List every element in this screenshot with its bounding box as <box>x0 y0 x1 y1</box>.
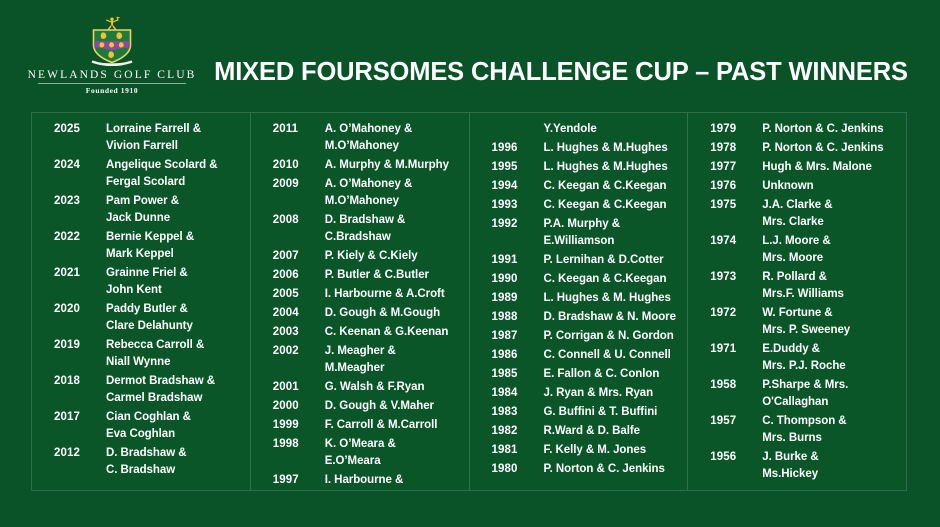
winner-row: 1988D. Bradshaw & N. Moore <box>470 309 688 326</box>
winner-names: Rebecca Carroll &Niall Wynne <box>106 337 244 371</box>
winner-row: 2003C. Keenan & G.Keenan <box>251 324 469 341</box>
winner-names: C. Keegan & C.Keegan <box>544 271 682 288</box>
winner-name-line: Bernie Keppel & <box>106 229 244 246</box>
winner-year: 1983 <box>492 404 544 421</box>
winner-year: 2024 <box>54 157 106 174</box>
winner-names: A. O’Mahoney &M.O’Mahoney <box>325 176 463 210</box>
winner-row: 1957C. Thompson &Mrs. Burns <box>688 413 906 447</box>
winner-year: 2018 <box>54 373 106 390</box>
winner-year: 2010 <box>273 157 325 174</box>
winner-year: 1980 <box>492 461 544 478</box>
winner-year: 2009 <box>273 176 325 193</box>
winner-names: L. Hughes & M.Hughes <box>544 159 682 176</box>
winner-year: 2004 <box>273 305 325 322</box>
winner-year: 1986 <box>492 347 544 364</box>
winner-name-line: C.Bradshaw <box>325 229 463 246</box>
winner-name-line: P. Norton & C. Jenkins <box>762 140 900 157</box>
winner-row: 1989L. Hughes & M. Hughes <box>470 290 688 307</box>
winner-names: J. Ryan & Mrs. Ryan <box>544 385 682 402</box>
winner-name-line: O'Callaghan <box>762 394 900 411</box>
winner-row: 1999F. Carroll & M.Carroll <box>251 417 469 434</box>
winner-year: 1975 <box>710 197 762 214</box>
winner-name-line: Mark Keppel <box>106 246 244 263</box>
winner-names: P. Norton & C. Jenkins <box>544 461 682 478</box>
winner-names: R.Ward & D. Balfe <box>544 423 682 440</box>
winner-name-line: Mrs. Moore <box>762 250 900 267</box>
winner-names: C. Thompson &Mrs. Burns <box>762 413 900 447</box>
winner-row: 2011A. O’Mahoney &M.O’Mahoney <box>251 121 469 155</box>
winner-name-line: Mrs.F. Williams <box>762 286 900 303</box>
winner-row: 2024Angelique Scolard &Fergal Scolard <box>32 157 250 191</box>
winner-names: P. Kiely & C.Kiely <box>325 248 463 265</box>
winner-name-line: Clare Delahunty <box>106 318 244 335</box>
winner-name-line: E.Duddy & <box>762 341 900 358</box>
winner-names: P. Butler & C.Butler <box>325 267 463 284</box>
winner-year: 2019 <box>54 337 106 354</box>
winner-names: D. Gough & V.Maher <box>325 398 463 415</box>
winner-year: 1958 <box>710 377 762 394</box>
winner-names: D. Gough & M.Gough <box>325 305 463 322</box>
winner-names: C. Keegan & C.Keegan <box>544 197 682 214</box>
winner-names: F. Carroll & M.Carroll <box>325 417 463 434</box>
column-3: Y.Yendole1996L. Hughes & M.Hughes1995L. … <box>469 113 688 490</box>
winner-names: P. Norton & C. Jenkins <box>762 121 900 138</box>
winner-year: 2003 <box>273 324 325 341</box>
winner-name-line: G. Walsh & F.Ryan <box>325 379 463 396</box>
winner-year: 1990 <box>492 271 544 288</box>
winner-name-line: Y.Yendole <box>544 121 682 138</box>
winner-name-line: E.O’Meara <box>325 453 463 470</box>
winner-year: 2017 <box>54 409 106 426</box>
winner-row: 1998K. O’Meara &E.O’Meara <box>251 436 469 470</box>
winner-row: 1986C. Connell & U. Connell <box>470 347 688 364</box>
winner-name-line: L.J. Moore & <box>762 233 900 250</box>
winner-name-line: I. Harbourne & A.Croft <box>325 286 463 303</box>
winner-name-line: M.O’Mahoney <box>325 193 463 210</box>
winner-name-line: D. Gough & M.Gough <box>325 305 463 322</box>
winner-row: 2002J. Meagher &M.Meagher <box>251 343 469 377</box>
winners-panel: 2025Lorraine Farrell &Vivion Farrell2024… <box>31 112 907 491</box>
winner-name-line: E.Williamson <box>544 233 682 250</box>
winner-row: 1975J.A. Clarke &Mrs. Clarke <box>688 197 906 231</box>
winner-names: E. Fallon & C. Conlon <box>544 366 682 383</box>
winner-name-line: C. Keegan & C.Keegan <box>544 178 682 195</box>
winner-names: L. Hughes & M.Hughes <box>544 140 682 157</box>
winner-year: 1999 <box>273 417 325 434</box>
winner-year: 1989 <box>492 290 544 307</box>
winner-name-line: P. Butler & C.Butler <box>325 267 463 284</box>
winner-names: P. Lernihan & D.Cotter <box>544 252 682 269</box>
winner-names: J. Meagher &M.Meagher <box>325 343 463 377</box>
winner-name-line: C. Connell & U. Connell <box>544 347 682 364</box>
winner-year: 1985 <box>492 366 544 383</box>
winner-name-line: K. O’Meara & <box>325 436 463 453</box>
winner-name-line: C. Thompson & <box>762 413 900 430</box>
winner-row: 2025Lorraine Farrell &Vivion Farrell <box>32 121 250 155</box>
winners-columns: 2025Lorraine Farrell &Vivion Farrell2024… <box>32 113 906 490</box>
club-name-underline <box>38 83 186 84</box>
winner-name-line: F. Kelly & M. Jones <box>544 442 682 459</box>
winner-year: 1994 <box>492 178 544 195</box>
winner-names: Lorraine Farrell &Vivion Farrell <box>106 121 244 155</box>
winner-year: 1992 <box>492 216 544 233</box>
winner-name-line: Pam Power & <box>106 193 244 210</box>
winner-row: 1993C. Keegan & C.Keegan <box>470 197 688 214</box>
winner-row: 1972W. Fortune &Mrs. P. Sweeney <box>688 305 906 339</box>
winner-name-line: P. Kiely & C.Kiely <box>325 248 463 265</box>
winner-names: K. O’Meara &E.O’Meara <box>325 436 463 470</box>
winner-row: 1982R.Ward & D. Balfe <box>470 423 688 440</box>
winner-row: 1984J. Ryan & Mrs. Ryan <box>470 385 688 402</box>
winner-row: 2017Cian Coghlan &Eva Coghlan <box>32 409 250 443</box>
winner-year: 2023 <box>54 193 106 210</box>
winner-name-line: D. Gough & V.Maher <box>325 398 463 415</box>
winner-year: 1981 <box>492 442 544 459</box>
column-2: 2011A. O’Mahoney &M.O’Mahoney2010A. Murp… <box>250 113 469 490</box>
winner-names: C. Keenan & G.Keenan <box>325 324 463 341</box>
winner-name-line: Angelique Scolard & <box>106 157 244 174</box>
winner-name-line: A. O’Mahoney & <box>325 121 463 138</box>
winner-year: 1974 <box>710 233 762 250</box>
winner-year: 2020 <box>54 301 106 318</box>
winner-year: 2007 <box>273 248 325 265</box>
winner-name-line: Fergal Scolard <box>106 174 244 191</box>
winner-name-line: Carmel Bradshaw <box>106 390 244 407</box>
page-title: MIXED FOURSOMES CHALLENGE CUP – PAST WIN… <box>205 58 917 87</box>
winner-row: 2010A. Murphy & M.Murphy <box>251 157 469 174</box>
winner-name-line: P. Norton & C. Jenkins <box>544 461 682 478</box>
winner-year: 2000 <box>273 398 325 415</box>
column-4: 1979P. Norton & C. Jenkins1978P. Norton … <box>687 113 906 490</box>
winner-name-line: A. Murphy & M.Murphy <box>325 157 463 174</box>
winner-names: J.A. Clarke &Mrs. Clarke <box>762 197 900 231</box>
winner-names: Angelique Scolard &Fergal Scolard <box>106 157 244 191</box>
winner-name-line: P.Sharpe & Mrs. <box>762 377 900 394</box>
winner-name-line: Paddy Butler & <box>106 301 244 318</box>
winner-year: 2001 <box>273 379 325 396</box>
winner-row: 2022Bernie Keppel &Mark Keppel <box>32 229 250 263</box>
winner-year: 1982 <box>492 423 544 440</box>
winner-year: 1995 <box>492 159 544 176</box>
winner-year: 2005 <box>273 286 325 303</box>
winner-names: P. Norton & C. Jenkins <box>762 140 900 157</box>
winner-name-line: Eva Coghlan <box>106 426 244 443</box>
winner-name-line: J.A. Clarke & <box>762 197 900 214</box>
winner-year: 2021 <box>54 265 106 282</box>
winner-year: 1957 <box>710 413 762 430</box>
winner-year: 1978 <box>710 140 762 157</box>
winner-names: P.A. Murphy &E.Williamson <box>544 216 682 250</box>
winner-row: 1991P. Lernihan & D.Cotter <box>470 252 688 269</box>
winner-name-line: Ms.Hickey <box>762 466 900 483</box>
winner-name-line: Grainne Friel & <box>106 265 244 282</box>
winner-year: 1987 <box>492 328 544 345</box>
winner-name-line: M.O’Mahoney <box>325 138 463 155</box>
winner-row: 1990C. Keegan & C.Keegan <box>470 271 688 288</box>
winner-names: D. Bradshaw & N. Moore <box>544 309 682 326</box>
winner-row: 2004D. Gough & M.Gough <box>251 305 469 322</box>
winner-name-line: Niall Wynne <box>106 354 244 371</box>
club-logo: NEWLANDS GOLF CLUB Founded 1910 <box>22 16 202 95</box>
winner-names: C. Keegan & C.Keegan <box>544 178 682 195</box>
winner-row: 2020Paddy Butler &Clare Delahunty <box>32 301 250 335</box>
winner-name-line: L. Hughes & M. Hughes <box>544 290 682 307</box>
winner-name-line: P. Lernihan & D.Cotter <box>544 252 682 269</box>
winner-row: 1983G. Buffini & T. Buffini <box>470 404 688 421</box>
winner-name-line: Unknown <box>762 178 900 195</box>
winner-year: 2011 <box>273 121 325 138</box>
club-name: NEWLANDS GOLF CLUB <box>22 69 202 81</box>
winner-year: 1997 <box>273 472 325 489</box>
winner-year: 1998 <box>273 436 325 453</box>
winner-names: E.Duddy &Mrs. P.J. Roche <box>762 341 900 375</box>
winner-row: 1981F. Kelly & M. Jones <box>470 442 688 459</box>
winner-names: P.Sharpe & Mrs.O'Callaghan <box>762 377 900 411</box>
winner-row: 1985E. Fallon & C. Conlon <box>470 366 688 383</box>
winner-row: 2023Pam Power &Jack Dunne <box>32 193 250 227</box>
winner-names: P. Corrigan & N. Gordon <box>544 328 682 345</box>
winner-row: 1997I. Harbourne & <box>251 472 469 489</box>
winner-row: 1992P.A. Murphy &E.Williamson <box>470 216 688 250</box>
winner-row: 2001G. Walsh & F.Ryan <box>251 379 469 396</box>
winner-name-line: Mrs. Clarke <box>762 214 900 231</box>
winner-year: 1993 <box>492 197 544 214</box>
winner-names: D. Bradshaw &C. Bradshaw <box>106 445 244 479</box>
winner-name-line: D. Bradshaw & <box>325 212 463 229</box>
winner-names: A. Murphy & M.Murphy <box>325 157 463 174</box>
winner-name-line: J. Burke & <box>762 449 900 466</box>
winner-row: 2000D. Gough & V.Maher <box>251 398 469 415</box>
winner-names: Y.Yendole <box>544 121 682 138</box>
winner-year: 1973 <box>710 269 762 286</box>
winner-year: 2022 <box>54 229 106 246</box>
winner-names: D. Bradshaw &C.Bradshaw <box>325 212 463 246</box>
winner-names: Dermot Bradshaw &Carmel Bradshaw <box>106 373 244 407</box>
winner-name-line: Rebecca Carroll & <box>106 337 244 354</box>
winner-name-line: R.Ward & D. Balfe <box>544 423 682 440</box>
winner-names: Pam Power &Jack Dunne <box>106 193 244 227</box>
winner-row: 1987P. Corrigan & N. Gordon <box>470 328 688 345</box>
winner-names: Unknown <box>762 178 900 195</box>
winner-row: 2019Rebecca Carroll &Niall Wynne <box>32 337 250 371</box>
winner-year: 1972 <box>710 305 762 322</box>
winner-row: 2018Dermot Bradshaw &Carmel Bradshaw <box>32 373 250 407</box>
winner-name-line: G. Buffini & T. Buffini <box>544 404 682 421</box>
winner-name-line: M.Meagher <box>325 360 463 377</box>
winner-row: Y.Yendole <box>470 121 688 138</box>
winner-year: 1956 <box>710 449 762 466</box>
winner-name-line: Cian Coghlan & <box>106 409 244 426</box>
board-header: NEWLANDS GOLF CLUB Founded 1910 MIXED FO… <box>0 0 940 108</box>
winner-row: 2006P. Butler & C.Butler <box>251 267 469 284</box>
winner-row: 1971E.Duddy &Mrs. P.J. Roche <box>688 341 906 375</box>
winner-row: 1958P.Sharpe & Mrs.O'Callaghan <box>688 377 906 411</box>
winner-row: 2012D. Bradshaw &C. Bradshaw <box>32 445 250 479</box>
winner-names: Hugh & Mrs. Malone <box>762 159 900 176</box>
winner-name-line: Mrs. P. Sweeney <box>762 322 900 339</box>
winner-year: 2006 <box>273 267 325 284</box>
winner-year: 1977 <box>710 159 762 176</box>
winner-names: I. Harbourne & A.Croft <box>325 286 463 303</box>
winner-year: 1988 <box>492 309 544 326</box>
winner-year: 2008 <box>273 212 325 229</box>
winner-name-line: C. Bradshaw <box>106 462 244 479</box>
winner-row: 2007P. Kiely & C.Kiely <box>251 248 469 265</box>
winner-name-line: I. Harbourne & <box>325 472 463 489</box>
winner-name-line: W. Fortune & <box>762 305 900 322</box>
winner-name-line: Hugh & Mrs. Malone <box>762 159 900 176</box>
winner-names: W. Fortune &Mrs. P. Sweeney <box>762 305 900 339</box>
winner-name-line: P. Norton & C. Jenkins <box>762 121 900 138</box>
winner-names: L.J. Moore &Mrs. Moore <box>762 233 900 267</box>
winner-names: G. Walsh & F.Ryan <box>325 379 463 396</box>
winner-year: 2002 <box>273 343 325 360</box>
golf-club-crest-icon <box>86 16 138 66</box>
winner-row: 1978P. Norton & C. Jenkins <box>688 140 906 157</box>
winner-name-line: R. Pollard & <box>762 269 900 286</box>
winner-name-line: Mrs. P.J. Roche <box>762 358 900 375</box>
winner-names: C. Connell & U. Connell <box>544 347 682 364</box>
column-1: 2025Lorraine Farrell &Vivion Farrell2024… <box>32 113 250 490</box>
winner-year: 1979 <box>710 121 762 138</box>
winner-name-line: C. Keenan & G.Keenan <box>325 324 463 341</box>
winner-name-line: Jack Dunne <box>106 210 244 227</box>
winner-name-line: D. Bradshaw & N. Moore <box>544 309 682 326</box>
winner-year: 1984 <box>492 385 544 402</box>
winner-row: 2008D. Bradshaw &C.Bradshaw <box>251 212 469 246</box>
winner-row: 1973R. Pollard &Mrs.F. Williams <box>688 269 906 303</box>
winner-name-line: E. Fallon & C. Conlon <box>544 366 682 383</box>
winner-names: Grainne Friel &John Kent <box>106 265 244 299</box>
winner-year: 1991 <box>492 252 544 269</box>
winner-name-line: John Kent <box>106 282 244 299</box>
winner-row: 1994C. Keegan & C.Keegan <box>470 178 688 195</box>
winner-names: A. O’Mahoney &M.O’Mahoney <box>325 121 463 155</box>
winner-row: 2005I. Harbourne & A.Croft <box>251 286 469 303</box>
winner-name-line: L. Hughes & M.Hughes <box>544 140 682 157</box>
winner-names: R. Pollard &Mrs.F. Williams <box>762 269 900 303</box>
winner-year: 1996 <box>492 140 544 157</box>
winner-names: J. Burke &Ms.Hickey <box>762 449 900 483</box>
winner-name-line: Vivion Farrell <box>106 138 244 155</box>
winner-name-line: P. Corrigan & N. Gordon <box>544 328 682 345</box>
winner-row: 1977Hugh & Mrs. Malone <box>688 159 906 176</box>
winner-row: 1996L. Hughes & M.Hughes <box>470 140 688 157</box>
winner-row: 2009A. O’Mahoney &M.O’Mahoney <box>251 176 469 210</box>
winner-row: 1974L.J. Moore &Mrs. Moore <box>688 233 906 267</box>
winner-name-line: A. O’Mahoney & <box>325 176 463 193</box>
winner-names: G. Buffini & T. Buffini <box>544 404 682 421</box>
winner-row: 2021Grainne Friel &John Kent <box>32 265 250 299</box>
winner-year: 2012 <box>54 445 106 462</box>
club-founded-text: Founded 1910 <box>22 86 202 95</box>
winner-row: 1979P. Norton & C. Jenkins <box>688 121 906 138</box>
winner-name-line: F. Carroll & M.Carroll <box>325 417 463 434</box>
winner-name-line: Lorraine Farrell & <box>106 121 244 138</box>
winner-row: 1976Unknown <box>688 178 906 195</box>
winner-row: 1956J. Burke &Ms.Hickey <box>688 449 906 483</box>
winner-name-line: Dermot Bradshaw & <box>106 373 244 390</box>
winner-names: Cian Coghlan &Eva Coghlan <box>106 409 244 443</box>
winner-name-line: J. Ryan & Mrs. Ryan <box>544 385 682 402</box>
winner-name-line: C. Keegan & C.Keegan <box>544 197 682 214</box>
winner-row: 1980P. Norton & C. Jenkins <box>470 461 688 478</box>
winner-name-line: Mrs. Burns <box>762 430 900 447</box>
winner-names: I. Harbourne & <box>325 472 463 489</box>
winner-year: 1976 <box>710 178 762 195</box>
winner-names: Paddy Butler &Clare Delahunty <box>106 301 244 335</box>
winner-name-line: L. Hughes & M.Hughes <box>544 159 682 176</box>
past-winners-board: NEWLANDS GOLF CLUB Founded 1910 MIXED FO… <box>0 0 940 527</box>
winner-name-line: P.A. Murphy & <box>544 216 682 233</box>
winner-names: F. Kelly & M. Jones <box>544 442 682 459</box>
winner-name-line: C. Keegan & C.Keegan <box>544 271 682 288</box>
winner-name-line: J. Meagher & <box>325 343 463 360</box>
winner-year: 1971 <box>710 341 762 358</box>
winner-names: L. Hughes & M. Hughes <box>544 290 682 307</box>
winner-name-line: D. Bradshaw & <box>106 445 244 462</box>
winner-year: 2025 <box>54 121 106 138</box>
winner-row: 1995L. Hughes & M.Hughes <box>470 159 688 176</box>
winner-names: Bernie Keppel &Mark Keppel <box>106 229 244 263</box>
